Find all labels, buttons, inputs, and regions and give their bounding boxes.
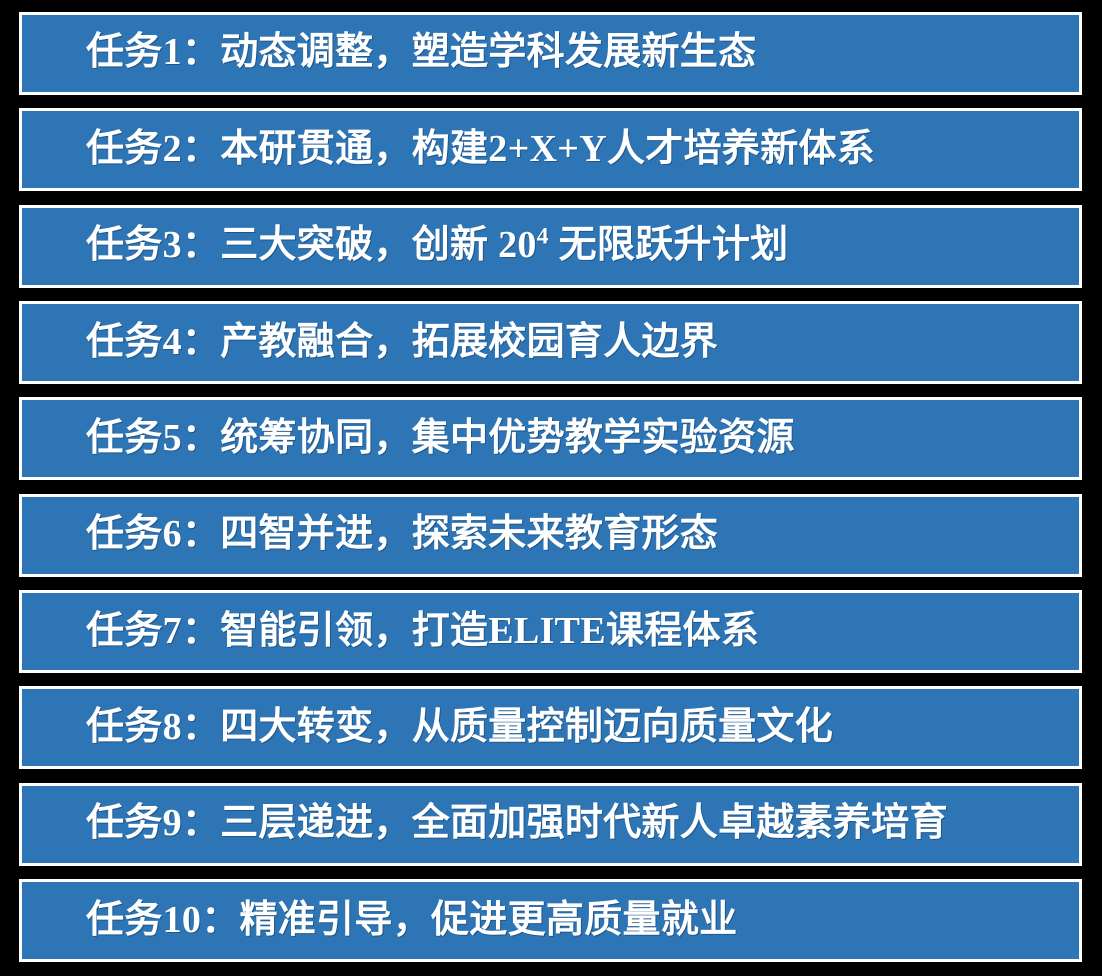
task-3-detail-after-superscript: 无限跃升计划 — [549, 224, 789, 266]
task-label-4: 任务4：产教融合，拓展校园育人边界 — [22, 323, 732, 363]
task-3-text-before-superscript: 任务3： — [86, 224, 220, 266]
task-label-1: 任务1：动态调整，塑造学科发展新生态 — [22, 33, 770, 73]
task-bar-4[interactable]: 任务4：产教融合，拓展校园育人边界 — [19, 301, 1082, 384]
task-bar-10[interactable]: 任务10：精准引导，促进更高质量就业 — [19, 879, 1082, 962]
task-bar-1[interactable]: 任务1：动态调整，塑造学科发展新生态 — [19, 12, 1082, 95]
task-label-7: 任务7：智能引领，打造ELITE课程体系 — [22, 612, 773, 652]
task-label-9: 任务9：三层递进，全面加强时代新人卓越素养培育 — [22, 804, 962, 844]
task-list: 任务1：动态调整，塑造学科发展新生态 任务2：本研贯通，构建2+X+Y人才培养新… — [0, 0, 1102, 976]
task-bar-2[interactable]: 任务2：本研贯通，构建2+X+Y人才培养新体系 — [19, 108, 1082, 191]
task-label-10: 任务10：精准引导，促进更高质量就业 — [22, 901, 751, 941]
task-bar-9[interactable]: 任务9：三层递进，全面加强时代新人卓越素养培育 — [19, 783, 1082, 866]
task-label-3: 任务3：三大突破，创新 204 无限跃升计划 — [22, 226, 802, 266]
task-bar-3[interactable]: 任务3：三大突破，创新 204 无限跃升计划 — [19, 205, 1082, 288]
task-label-2: 任务2：本研贯通，构建2+X+Y人才培养新体系 — [22, 130, 889, 170]
task-bar-5[interactable]: 任务5：统筹协同，集中优势教学实验资源 — [19, 397, 1082, 480]
task-3-detail-before-superscript: 创新 20 — [412, 224, 537, 266]
task-bar-8[interactable]: 任务8：四大转变，从质量控制迈向质量文化 — [19, 686, 1082, 769]
task-label-8: 任务8：四大转变，从质量控制迈向质量文化 — [22, 708, 847, 748]
task-label-6: 任务6：四智并进，探索未来教育形态 — [22, 515, 732, 555]
task-label-5: 任务5：统筹协同，集中优势教学实验资源 — [22, 419, 809, 459]
task-3-headline: 三大突破， — [220, 224, 412, 266]
task-bar-6[interactable]: 任务6：四智并进，探索未来教育形态 — [19, 494, 1082, 577]
task-bar-7[interactable]: 任务7：智能引领，打造ELITE课程体系 — [19, 590, 1082, 673]
task-3-superscript: 4 — [537, 224, 549, 250]
